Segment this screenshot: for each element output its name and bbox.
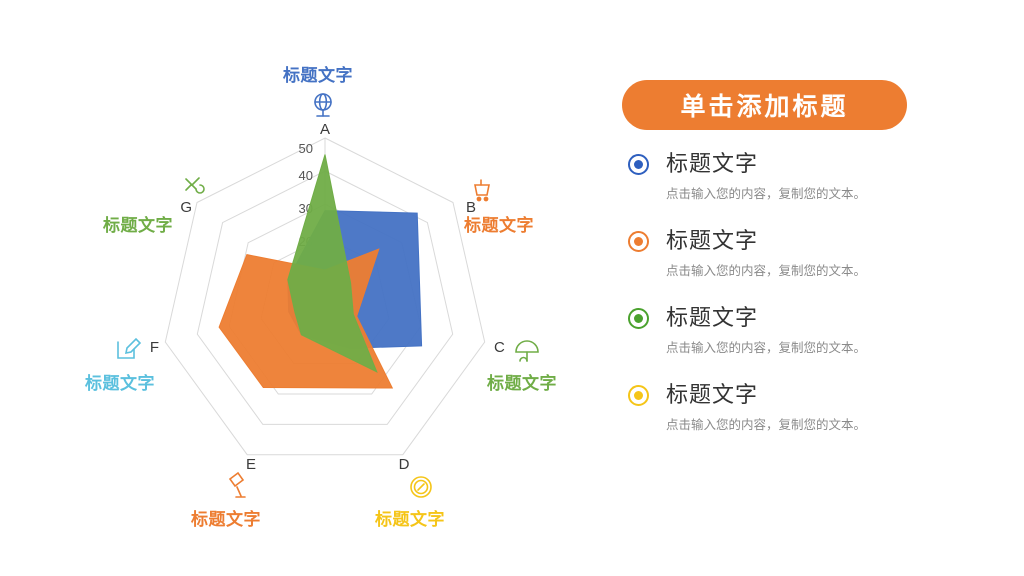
lamp-icon	[230, 473, 245, 497]
slide-canvas: 0 10 20 30 40 50 A B C D E F G	[0, 0, 1024, 576]
category-title-f: 标题文字	[85, 369, 155, 394]
category-title-a: 标题文字	[283, 61, 353, 86]
tick-label-40: 40	[299, 168, 313, 183]
shopping-cart-icon	[475, 180, 489, 201]
list-item[interactable]: 标题文字 点击输入您的内容，复制您的文本。	[618, 150, 1018, 204]
vertex-label-f: F	[150, 339, 159, 356]
list-item[interactable]: 标题文字 点击输入您的内容，复制您的文本。	[618, 381, 1018, 435]
list-item[interactable]: 标题文字 点击输入您的内容，复制您的文本。	[618, 227, 1018, 281]
edit-note-icon	[118, 339, 140, 358]
vertex-label-d: D	[399, 456, 410, 473]
globe-icon	[315, 94, 331, 116]
vertex-label-g: G	[180, 199, 192, 216]
list-item-desc: 点击输入您的内容，复制您的文本。	[666, 263, 1018, 280]
bullet-icon	[628, 308, 649, 329]
list-item-heading: 标题文字	[666, 227, 1018, 255]
vertex-label-a: A	[320, 121, 330, 138]
wrench-icon	[186, 178, 204, 193]
compass-icon	[411, 477, 431, 497]
umbrella-icon	[516, 341, 538, 361]
radar-chart-svg: 0 10 20 30 40 50 A B C D E F G	[0, 0, 600, 576]
list-item-heading: 标题文字	[666, 150, 1018, 178]
list-item-heading: 标题文字	[666, 381, 1018, 409]
category-title-c: 标题文字	[487, 369, 557, 394]
category-title-d: 标题文字	[375, 505, 445, 530]
bullet-icon	[628, 231, 649, 252]
list-item-desc: 点击输入您的内容，复制您的文本。	[666, 417, 1018, 434]
list-item-desc: 点击输入您的内容，复制您的文本。	[666, 340, 1018, 357]
vertex-label-e: E	[246, 456, 256, 473]
list-item-desc: 点击输入您的内容，复制您的文本。	[666, 186, 1018, 203]
section-title-pill: 单击添加标题	[622, 80, 907, 130]
list-item-heading: 标题文字	[666, 304, 1018, 332]
content-panel: 单击添加标题 标题文字 点击输入您的内容，复制您的文本。 标题文字 点击输入您的…	[600, 0, 1024, 576]
bullet-icon	[628, 154, 649, 175]
category-title-g: 标题文字	[103, 211, 173, 236]
category-title-b: 标题文字	[464, 211, 534, 236]
bullet-list: 标题文字 点击输入您的内容，复制您的文本。 标题文字 点击输入您的内容，复制您的…	[618, 150, 1018, 458]
category-title-e: 标题文字	[191, 505, 261, 530]
vertex-label-c: C	[494, 339, 505, 356]
list-item[interactable]: 标题文字 点击输入您的内容，复制您的文本。	[618, 304, 1018, 358]
bullet-icon	[628, 385, 649, 406]
tick-label-50: 50	[299, 141, 313, 156]
radar-chart-panel: 0 10 20 30 40 50 A B C D E F G	[0, 0, 600, 576]
